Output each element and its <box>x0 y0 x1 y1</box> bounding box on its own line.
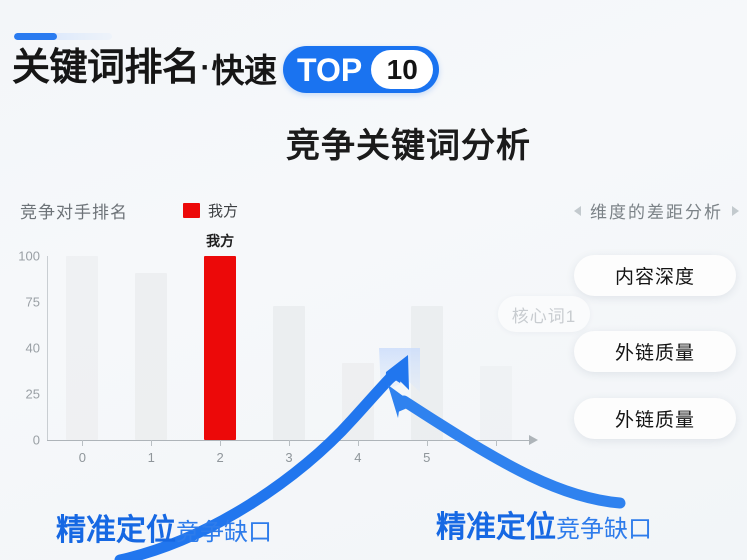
dimension-gap-header: 维度的差距分析 <box>574 198 739 223</box>
x-axis-tick-label: 2 <box>217 450 224 465</box>
bar-highlight-label: 我方 <box>206 231 234 251</box>
headline-separator-dot: · <box>201 51 211 85</box>
legend-color-swatch <box>183 203 200 218</box>
x-axis-tick-mark <box>82 440 83 446</box>
y-axis: 1007540250 <box>0 240 46 428</box>
headline: 关键词排名 · 快速 <box>12 44 277 92</box>
x-axis-tick-label: 5 <box>423 450 430 465</box>
dimension-card-label: 外链质量 <box>615 338 695 365</box>
x-axis-tick-mark <box>220 440 221 446</box>
top-rank-badge: TOP 10 <box>283 46 439 93</box>
headline-sub-text: 快速 <box>212 44 277 92</box>
competitor-bar-chart: 1007540250 我方 0123455 <box>0 240 560 480</box>
x-axis-tick-label: 0 <box>79 450 86 465</box>
headline-main-text: 关键词排名 <box>12 49 200 87</box>
x-axis-tick-mark <box>289 440 290 446</box>
page-title: 竞争关键词分析 <box>0 118 747 167</box>
y-axis-tick: 75 <box>26 295 40 310</box>
core-keyword-ghost-pill: 核心词1 <box>498 296 590 332</box>
caption-left: 精准定位 竞争缺口 <box>56 505 272 549</box>
x-axis-tick-mark <box>496 440 497 446</box>
caption-right: 精准定位 竞争缺口 <box>436 502 652 546</box>
dimension-card-label: 外链质量 <box>615 405 695 432</box>
bar <box>135 273 167 440</box>
x-axis-tick-mark <box>151 440 152 446</box>
chart-plot-area: 我方 <box>48 256 530 440</box>
badge-label: TOP <box>297 54 362 86</box>
left-triangle-icon <box>574 206 581 216</box>
dimension-gap-title: 维度的差距分析 <box>590 198 723 223</box>
chart-legend: 我方 <box>183 200 238 221</box>
core-keyword-ghost-label: 核心词1 <box>512 302 576 327</box>
slide-canvas: 关键词排名 · 快速 TOP 10 竞争关键词分析 竞争对手排名 我方 维度的差… <box>0 0 747 560</box>
progress-bar-fill <box>14 33 57 40</box>
x-axis-tick-label: 1 <box>148 450 155 465</box>
dimension-card-label: 内容深度 <box>615 262 695 289</box>
bar <box>273 306 305 440</box>
legend-label: 我方 <box>208 200 238 221</box>
dimension-card-0[interactable]: 内容深度 <box>574 255 736 296</box>
bar <box>66 256 98 440</box>
caption-right-strong: 精准定位 <box>436 502 556 546</box>
x-axis-tick-label: 3 <box>285 450 292 465</box>
dimension-card-1[interactable]: 外链质量 <box>574 331 736 372</box>
x-axis-tick-mark <box>427 440 428 446</box>
caption-left-strong: 精准定位 <box>56 505 176 549</box>
y-axis-tick: 100 <box>18 249 40 264</box>
badge-number: 10 <box>371 50 433 89</box>
bar <box>480 366 512 440</box>
dimension-card-2[interactable]: 外链质量 <box>574 398 736 439</box>
page-title-text: 竞争关键词分析 <box>216 127 531 165</box>
progress-bar-track <box>14 33 112 40</box>
y-axis-tick: 0 <box>33 433 40 448</box>
y-axis-tick: 40 <box>26 341 40 356</box>
x-axis-arrow-icon <box>529 435 538 445</box>
caption-left-weak: 竞争缺口 <box>176 512 272 547</box>
caption-right-weak: 竞争缺口 <box>556 509 652 544</box>
bar <box>342 363 374 440</box>
x-axis-tick-label: 4 <box>354 450 361 465</box>
y-axis-tick: 25 <box>26 387 40 402</box>
chart-section-label: 竞争对手排名 <box>20 198 128 223</box>
x-axis-tick-mark <box>358 440 359 446</box>
bar <box>411 306 443 440</box>
right-triangle-icon <box>732 206 739 216</box>
x-axis-tick-label: 5 <box>492 450 499 465</box>
bar-highlight <box>204 256 236 440</box>
